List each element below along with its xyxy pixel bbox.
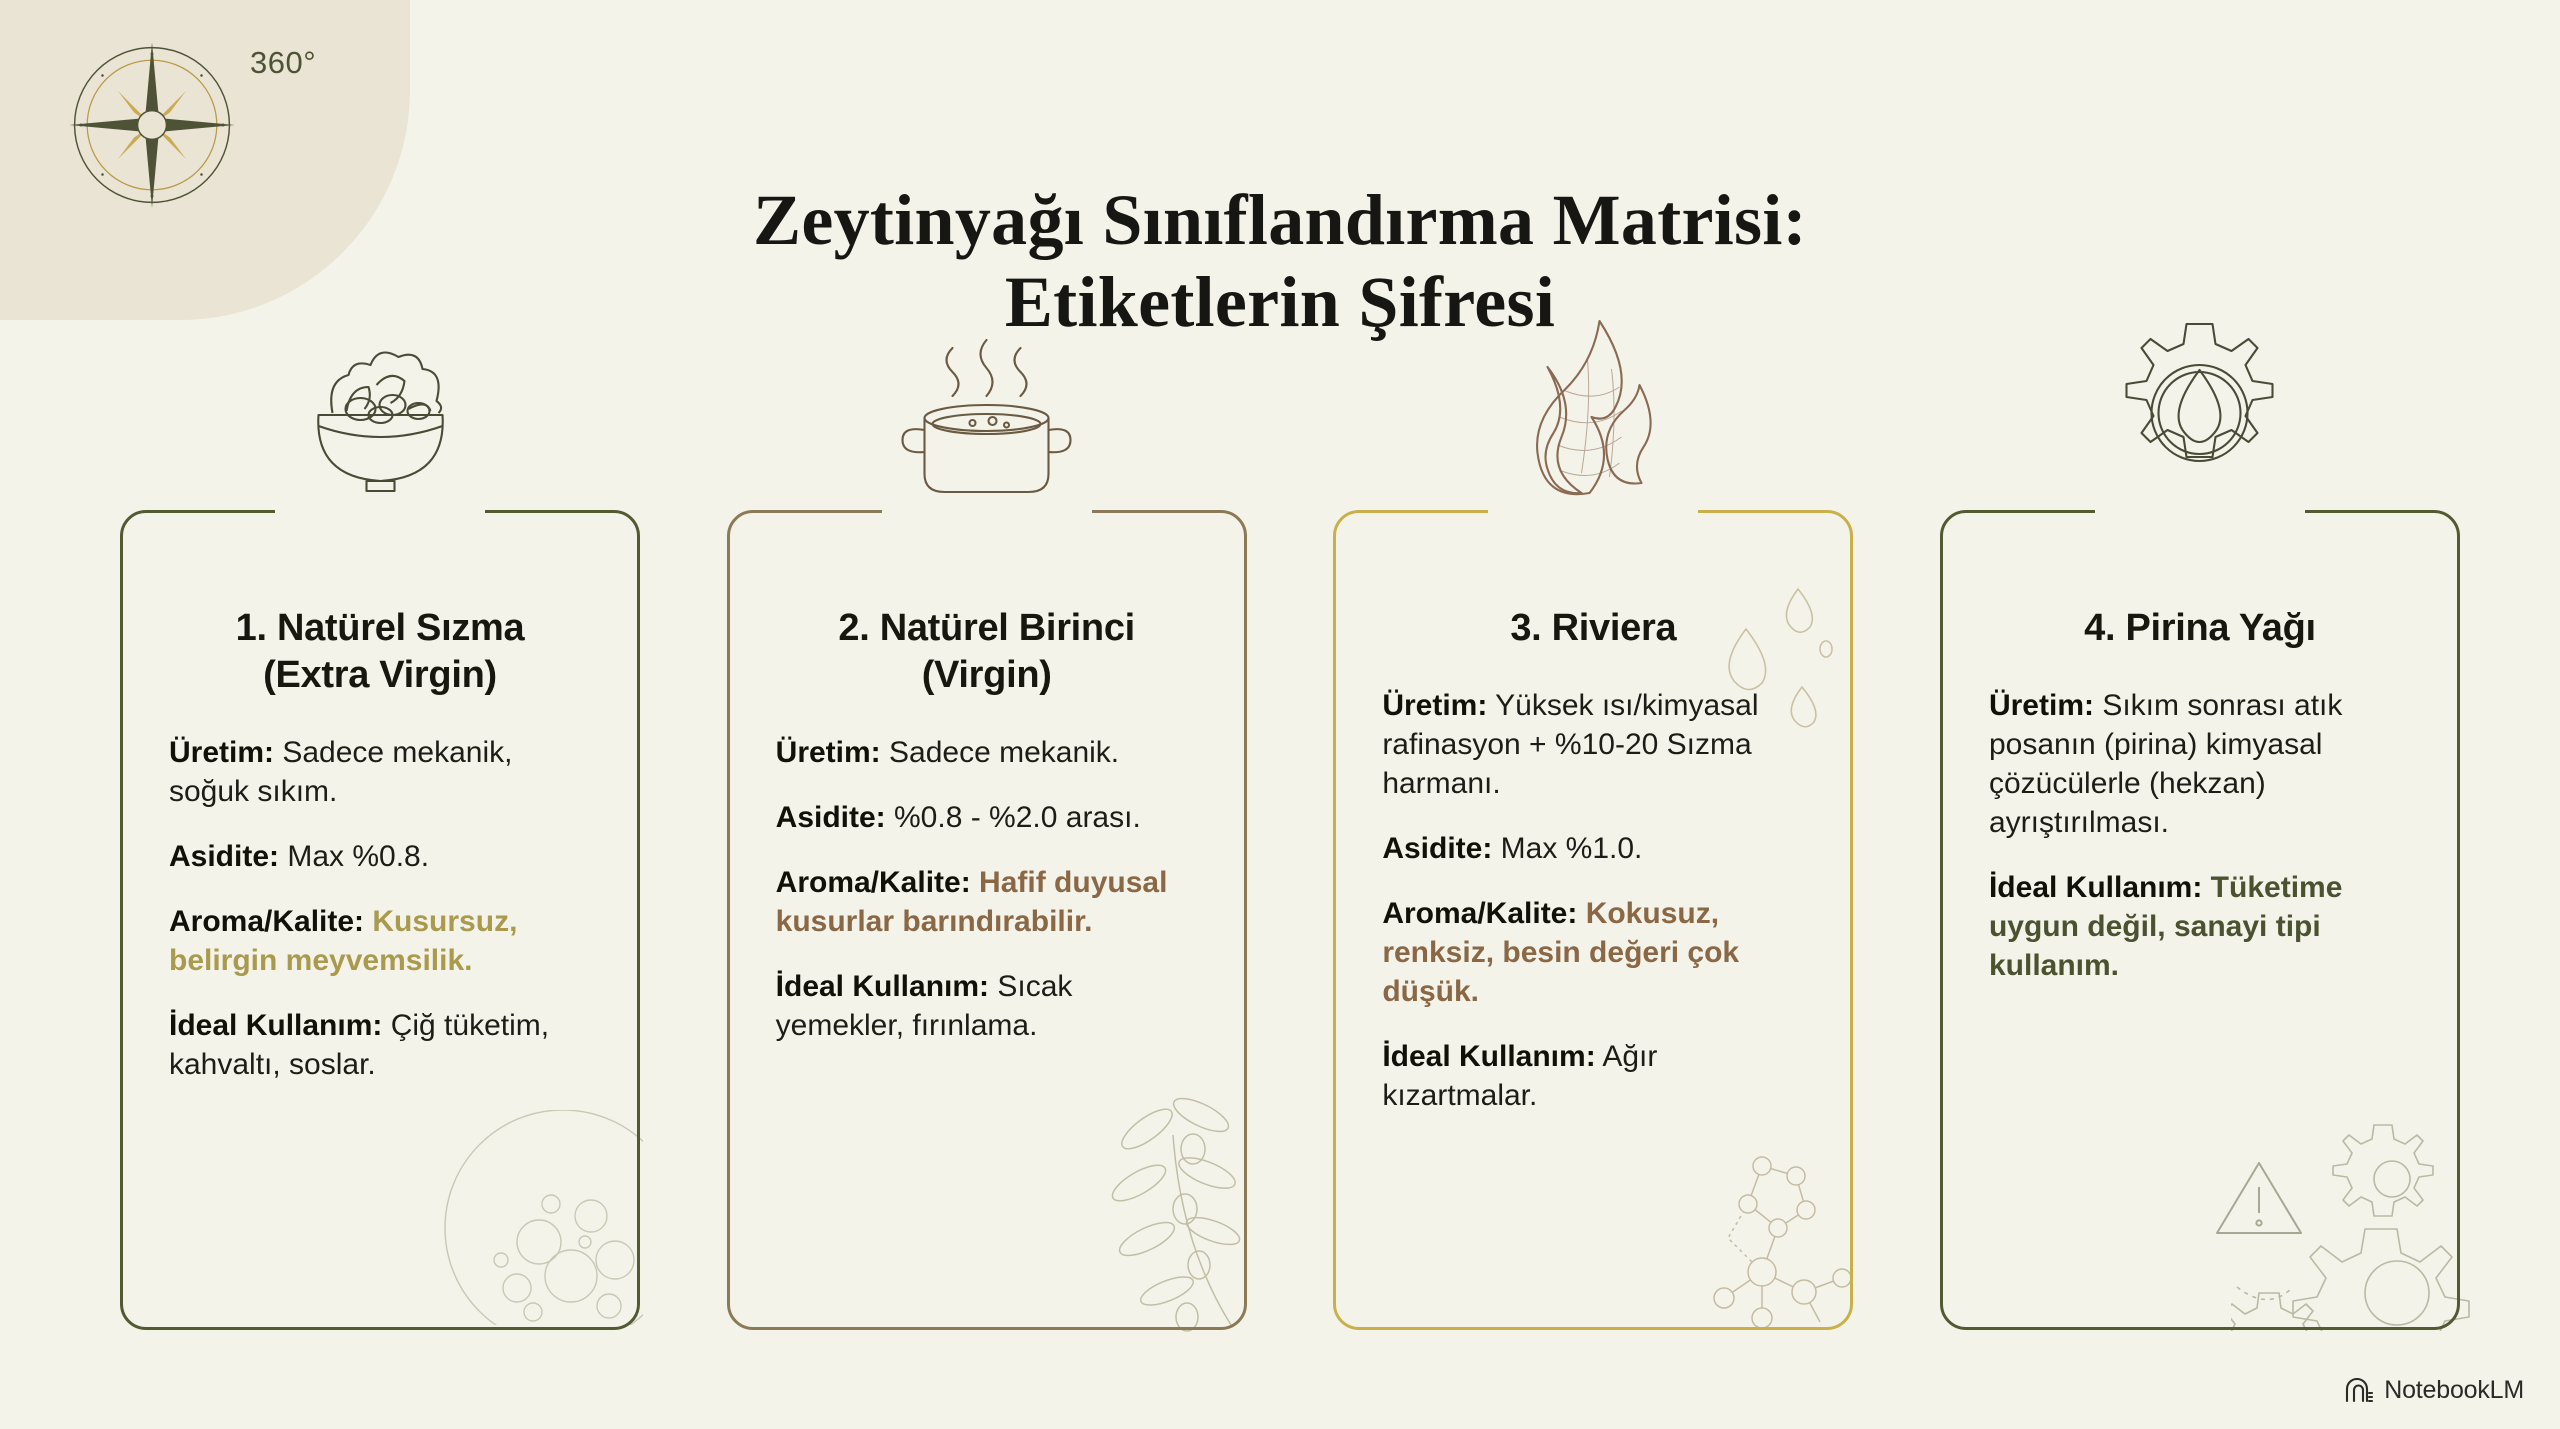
notebooklm-label: NotebookLM bbox=[2384, 1376, 2524, 1405]
flame-icon bbox=[1486, 288, 1701, 508]
gears-decoration bbox=[2231, 1101, 2471, 1331]
card-3-row-aroma: Aroma/Kalite: Kokusuz, renksiz, besin de… bbox=[1382, 894, 1804, 1011]
card-1-label-asidite: Asidite: bbox=[169, 840, 279, 873]
card-2-title-sub: (Virgin) bbox=[776, 652, 1198, 699]
card-2-row-aroma: Aroma/Kalite: Hafif duyusal kusurlar bar… bbox=[776, 863, 1198, 941]
card-2-title: 2. Natürel Birinci (Virgin) bbox=[776, 605, 1198, 699]
card-3-label-aroma: Aroma/Kalite: bbox=[1382, 897, 1577, 930]
card-3-title-main: 3. Riviera bbox=[1510, 607, 1676, 649]
card-1-row-aroma: Aroma/Kalite: Kusursuz, belirgin meyvems… bbox=[169, 902, 591, 980]
card-2-row-kullanim: İdeal Kullanım: Sıcak yemekler, fırınlam… bbox=[776, 967, 1198, 1045]
oil-grade-card-1[interactable]: 1. Natürel Sızma (Extra Virgin) Üretim: … bbox=[120, 510, 640, 1330]
gear-oil-drop-icon bbox=[2092, 288, 2307, 508]
card-1-title: 1. Natürel Sızma (Extra Virgin) bbox=[169, 605, 591, 699]
card-4-label-kullanim: İdeal Kullanım: bbox=[1989, 871, 2202, 904]
olive-branch-decoration bbox=[1035, 1033, 1260, 1333]
card-4-row-uretim: Üretim: Sıkım sonrası atık posanın (piri… bbox=[1989, 686, 2411, 842]
oil-grade-card-row: 1. Natürel Sızma (Extra Virgin) Üretim: … bbox=[120, 510, 2460, 1330]
card-1-title-sub: (Extra Virgin) bbox=[169, 652, 591, 699]
card-2-row-asidite: Asidite: %0.8 - %2.0 arası. bbox=[776, 798, 1198, 837]
oil-bubbles-decoration bbox=[413, 1110, 643, 1325]
page-title-line-1: Zeytinyağı Sınıflandırma Matrisi: bbox=[753, 180, 1807, 260]
infographic-canvas: 360° Zeytinyağı Sınıflandırma Matrisi: E… bbox=[0, 0, 2560, 1429]
card-2-label-aroma: Aroma/Kalite: bbox=[776, 866, 971, 899]
card-3-row-asidite: Asidite: Max %1.0. bbox=[1382, 829, 1804, 868]
card-4-title-main: 4. Pirina Yağı bbox=[2084, 607, 2316, 649]
card-3-row-kullanim: İdeal Kullanım: Ağır kızartmalar. bbox=[1382, 1037, 1804, 1115]
card-3-label-uretim: Üretim: bbox=[1382, 689, 1487, 722]
card-2-value-uretim: Sadece mekanik. bbox=[881, 736, 1119, 769]
card-2-value-asidite: %0.8 - %2.0 arası. bbox=[886, 801, 1141, 834]
card-1-row-uretim: Üretim: Sadece mekanik, soğuk sıkım. bbox=[169, 733, 591, 811]
card-1-label-kullanim: İdeal Kullanım: bbox=[169, 1009, 382, 1042]
oil-grade-card-2[interactable]: 2. Natürel Birinci (Virgin) Üretim: Sade… bbox=[727, 510, 1247, 1330]
card-1-row-asidite: Asidite: Max %0.8. bbox=[169, 837, 591, 876]
card-2-title-main: 2. Natürel Birinci bbox=[838, 607, 1135, 649]
oil-grade-card-4[interactable]: 4. Pirina Yağı Üretim: Sıkım sonrası atı… bbox=[1940, 510, 2460, 1330]
card-1-value-asidite: Max %0.8. bbox=[279, 840, 429, 873]
card-3-title: 3. Riviera bbox=[1382, 605, 1804, 652]
card-3-value-asidite: Max %1.0. bbox=[1492, 832, 1642, 865]
compass-degree-label: 360° bbox=[250, 45, 316, 81]
card-1-label-uretim: Üretim: bbox=[169, 736, 274, 769]
card-2-label-uretim: Üretim: bbox=[776, 736, 881, 769]
card-3-label-asidite: Asidite: bbox=[1382, 832, 1492, 865]
card-4-row-kullanim: İdeal Kullanım: Tüketime uygun değil, sa… bbox=[1989, 868, 2411, 985]
notebooklm-logo-icon bbox=[2344, 1378, 2374, 1404]
card-1-title-main: 1. Natürel Sızma bbox=[236, 607, 525, 649]
card-4-label-uretim: Üretim: bbox=[1989, 689, 2094, 722]
warning-triangle-decoration bbox=[2211, 1155, 2307, 1241]
cooking-pot-icon bbox=[879, 288, 1094, 508]
oil-grade-card-3[interactable]: 3. Riviera Üretim: Yüksek ısı/kimyasal r… bbox=[1333, 510, 1853, 1330]
molecule-decoration bbox=[1700, 1132, 1860, 1327]
card-2-label-kullanim: İdeal Kullanım: bbox=[776, 970, 989, 1003]
card-2-label-asidite: Asidite: bbox=[776, 801, 886, 834]
card-4-title: 4. Pirina Yağı bbox=[1989, 605, 2411, 652]
card-1-label-aroma: Aroma/Kalite: bbox=[169, 905, 364, 938]
card-3-label-kullanim: İdeal Kullanım: bbox=[1382, 1040, 1595, 1073]
card-2-row-uretim: Üretim: Sadece mekanik. bbox=[776, 733, 1198, 772]
salad-bowl-icon bbox=[273, 288, 488, 508]
card-3-row-uretim: Üretim: Yüksek ısı/kimyasal rafinasyon +… bbox=[1382, 686, 1804, 803]
card-1-row-kullanim: İdeal Kullanım: Çiğ tüketim, kahvaltı, s… bbox=[169, 1006, 591, 1084]
notebooklm-watermark: NotebookLM bbox=[2344, 1376, 2524, 1405]
